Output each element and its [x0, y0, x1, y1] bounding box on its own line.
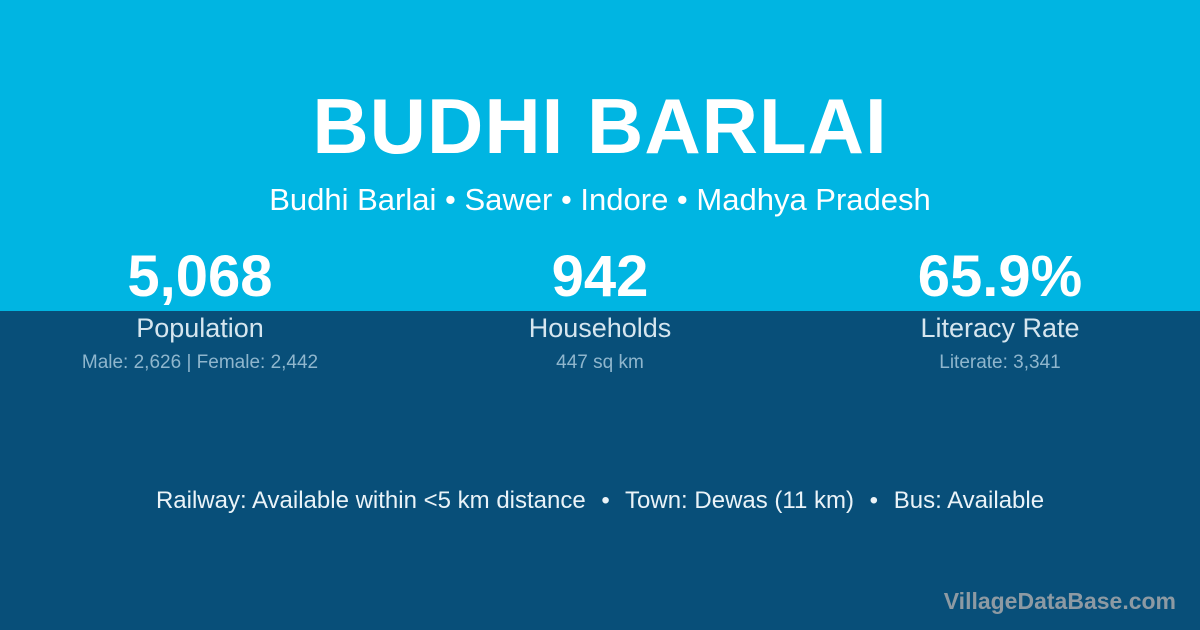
stats-row: 5,068 Population Male: 2,626 | Female: 2…	[0, 245, 1200, 385]
page-title: BUDHI BARLAI	[0, 78, 1200, 174]
stat-households-value: 942	[400, 245, 800, 309]
infrastructure-line: Railway: Available within <5 km distance…	[0, 485, 1200, 517]
stat-population-sub: Male: 2,626 | Female: 2,442	[0, 351, 400, 375]
village-info-card: BUDHI BARLAI Budhi Barlai • Sawer • Indo…	[0, 0, 1200, 630]
stat-households-sub: 447 sq km	[400, 351, 800, 375]
infra-town: Town: Dewas (11 km)	[625, 487, 854, 514]
infra-separator-1: •	[592, 485, 618, 517]
stat-population-value: 5,068	[0, 245, 400, 309]
stat-literacy-value: 65.9%	[800, 245, 1200, 309]
stat-population: 5,068 Population Male: 2,626 | Female: 2…	[0, 245, 400, 375]
infra-railway: Railway: Available within <5 km distance	[156, 487, 586, 514]
stat-literacy-label: Literacy Rate	[800, 311, 1200, 345]
breadcrumb: Budhi Barlai • Sawer • Indore • Madhya P…	[0, 180, 1200, 220]
stat-literacy: 65.9% Literacy Rate Literate: 3,341	[800, 245, 1200, 375]
stat-literacy-sub: Literate: 3,341	[800, 351, 1200, 375]
site-brand: VillageDataBase.com	[944, 586, 1176, 616]
infra-separator-2: •	[861, 485, 887, 517]
stat-population-label: Population	[0, 311, 400, 345]
stat-households: 942 Households 447 sq km	[400, 245, 800, 375]
stat-households-label: Households	[400, 311, 800, 345]
infra-bus: Bus: Available	[894, 487, 1044, 514]
